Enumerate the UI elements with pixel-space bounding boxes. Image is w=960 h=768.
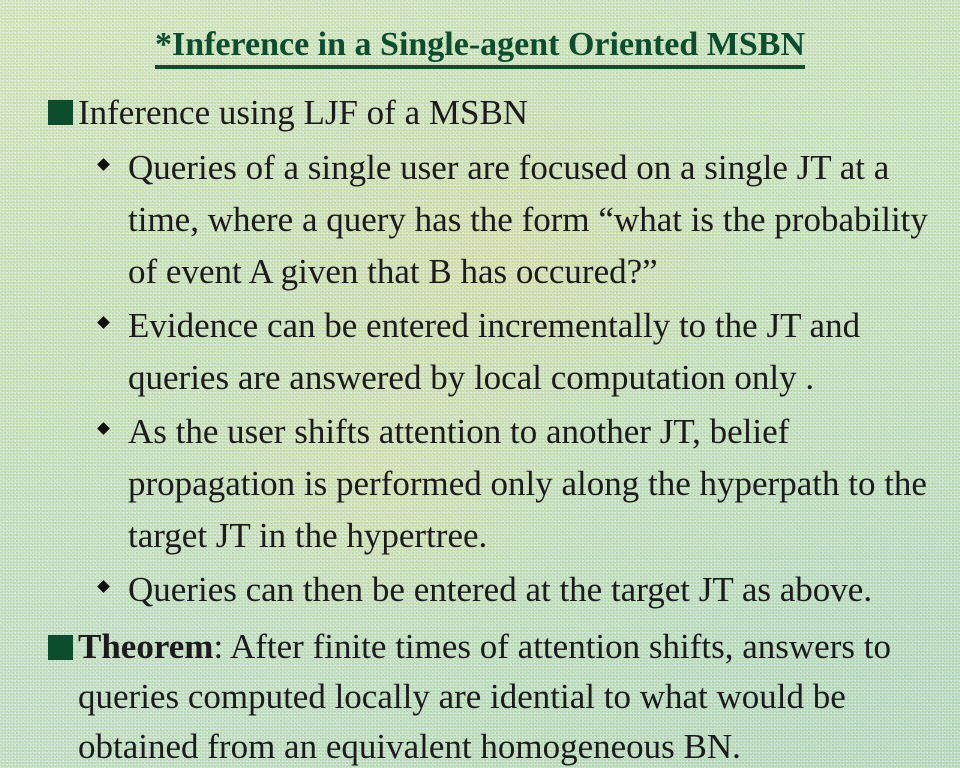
diamond-bullet-icon (97, 158, 110, 171)
slide-body: Inference using LJF of a MSBN Queries of… (0, 88, 960, 768)
bullet-text: As the user shifts attention to another … (128, 412, 927, 555)
diamond-bullet-icon (97, 580, 110, 593)
bullet-item-level1-theorem: Theorem: After finite times of attention… (0, 622, 960, 768)
bullet-item-level2: Evidence can be entered incrementally to… (0, 300, 960, 404)
bullet-text: Queries of a single user are focused on … (128, 148, 928, 291)
diamond-bullet-icon (97, 422, 110, 435)
bullet-item-level2: Queries of a single user are focused on … (0, 142, 960, 298)
square-bullet-icon (48, 100, 73, 125)
square-bullet-icon (48, 635, 73, 660)
slide-title-text: *Inference in a Single-agent Oriented MS… (155, 26, 805, 69)
diamond-bullet-icon (97, 316, 110, 329)
theorem-label: Theorem (78, 627, 213, 666)
presentation-slide: *Inference in a Single-agent Oriented MS… (0, 0, 960, 768)
slide-title: *Inference in a Single-agent Oriented MS… (0, 26, 960, 64)
bullet-text: Evidence can be entered incrementally to… (128, 306, 860, 397)
slide-content: *Inference in a Single-agent Oriented MS… (0, 0, 960, 768)
bullet-item-level2: As the user shifts attention to another … (0, 406, 960, 562)
bullet-item-level2: Queries can then be entered at the targe… (0, 564, 960, 616)
bullet-text: Queries can then be entered at the targe… (128, 570, 872, 609)
sub-bullet-list: Queries of a single user are focused on … (0, 142, 960, 616)
bullet-item-level1: Inference using LJF of a MSBN (0, 88, 960, 138)
bullet-text: Inference using LJF of a MSBN (78, 93, 528, 132)
